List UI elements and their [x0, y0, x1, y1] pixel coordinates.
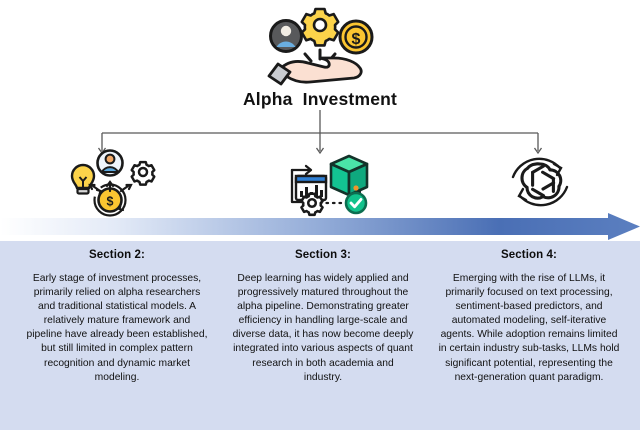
- alpha-research-human-icon: $: [50, 146, 170, 218]
- section-column-2: Section 2: Early stage of investment pro…: [0, 241, 218, 430]
- gear-icon: [301, 194, 322, 215]
- green-cube-icon: [331, 156, 367, 195]
- section-column-4: Section 4: Emerging with the rise of LLM…: [428, 241, 640, 430]
- dollar-coin-icon: $: [340, 21, 372, 53]
- section-heading: Section 3:: [232, 249, 414, 261]
- evolution-timeline-arrow: [0, 213, 640, 240]
- gear-icon: [132, 162, 155, 185]
- diagram-canvas: $ Alpha Investment: [0, 0, 640, 430]
- svg-text:$: $: [107, 195, 114, 209]
- user-avatar-icon: [271, 21, 302, 52]
- openai-style-logo-icon: [522, 164, 561, 198]
- svg-text:$: $: [352, 31, 361, 48]
- gear-icon: [302, 9, 338, 45]
- open-hand-icon: [269, 58, 361, 84]
- user-avatar-icon: [98, 151, 123, 176]
- section-body: Deep learning has widely applied and pro…: [232, 272, 414, 385]
- section-heading: Section 2:: [26, 249, 208, 261]
- section-column-3: Section 3: Deep learning has widely appl…: [218, 241, 428, 430]
- check-circle-icon: [346, 193, 366, 213]
- sections-panel: Section 2: Early stage of investment pro…: [0, 241, 640, 430]
- diagram-title: Alpha Investment: [0, 89, 640, 110]
- llm-agent-icon: [480, 146, 600, 218]
- deep-learning-pipeline-icon: [270, 146, 390, 218]
- hand-holding-investment-icon: $: [250, 6, 390, 90]
- section-body: Emerging with the rise of LLMs, it prima…: [438, 272, 620, 385]
- lightbulb-icon: [72, 165, 94, 194]
- section-body: Early stage of investment processes, pri…: [26, 272, 208, 385]
- stage-icon-row: $: [0, 146, 640, 218]
- section-heading: Section 4:: [438, 249, 620, 261]
